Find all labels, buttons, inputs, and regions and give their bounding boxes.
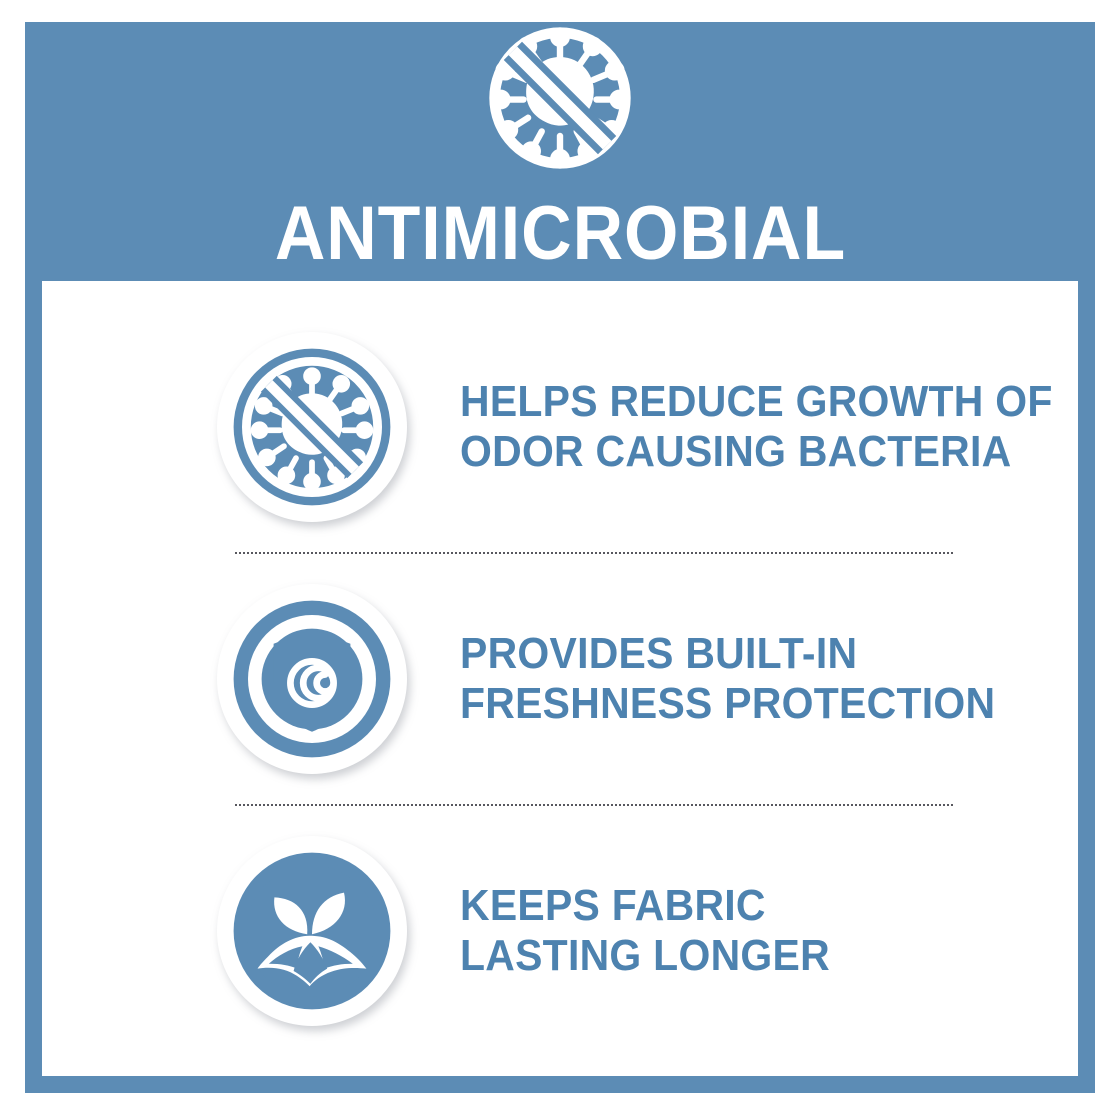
feature-line-2: LASTING LONGER	[460, 931, 830, 980]
feature-text: PROVIDES BUILT-IN FRESHNESS PROTECTION	[460, 629, 995, 728]
feature-line-2: ODOR CAUSING BACTERIA	[460, 427, 1053, 476]
feature-icon-badge	[217, 584, 407, 774]
antimicrobial-infographic: ANTIMICROBIAL	[25, 22, 1095, 1093]
feature-text: HELPS REDUCE GROWTH OF ODOR CAUSING BACT…	[460, 377, 1053, 476]
feature-line-2: FRESHNESS PROTECTION	[460, 679, 995, 728]
feature-text: KEEPS FABRIC LASTING LONGER	[460, 881, 830, 980]
no-germs-icon	[232, 347, 392, 507]
feature-row: PROVIDES BUILT-IN FRESHNESS PROTECTION	[42, 554, 1078, 804]
page-title: ANTIMICROBIAL	[274, 196, 845, 272]
row-divider	[235, 552, 953, 554]
shield-swirl-icon	[232, 599, 392, 759]
feature-icon-badge	[217, 836, 407, 1026]
feature-line-1: PROVIDES BUILT-IN	[460, 629, 995, 678]
header-band: ANTIMICROBIAL	[25, 22, 1095, 281]
features-panel: HELPS REDUCE GROWTH OF ODOR CAUSING BACT…	[42, 281, 1078, 1076]
feature-line-1: KEEPS FABRIC	[460, 881, 830, 930]
feature-row: KEEPS FABRIC LASTING LONGER	[42, 806, 1078, 1056]
feature-row: HELPS REDUCE GROWTH OF ODOR CAUSING BACT…	[42, 302, 1078, 552]
feature-icon-badge	[217, 332, 407, 522]
feature-line-1: HELPS REDUCE GROWTH OF	[460, 377, 1053, 426]
no-germs-icon	[484, 22, 636, 174]
row-divider	[235, 804, 953, 806]
sprout-leaf-icon	[232, 851, 392, 1011]
